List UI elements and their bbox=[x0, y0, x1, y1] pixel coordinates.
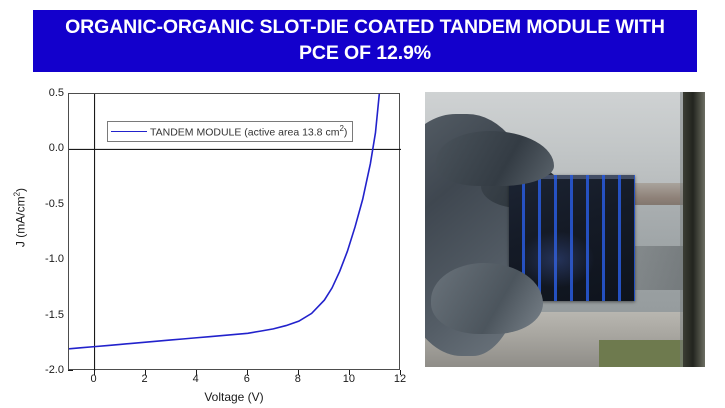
module-photograph bbox=[425, 92, 705, 367]
page-title: ORGANIC-ORGANIC SLOT-DIE COATED TANDEM M… bbox=[65, 15, 665, 67]
y-tick-label: -2.0 bbox=[28, 364, 64, 376]
legend-color-swatch bbox=[111, 131, 147, 132]
y-tick-label: -1.5 bbox=[28, 309, 64, 321]
x-tick-label: 2 bbox=[130, 373, 160, 385]
legend-label-tail: ) bbox=[344, 127, 348, 139]
x-tick-label: 10 bbox=[334, 373, 364, 385]
x-axis-tick-labels: 0 2 4 6 8 10 12 bbox=[68, 373, 400, 391]
legend-label: TANDEM MODULE (active area 13.8 cm2) bbox=[150, 124, 347, 139]
y-tick-label: 0.0 bbox=[28, 142, 64, 154]
chart-legend: TANDEM MODULE (active area 13.8 cm2) bbox=[107, 121, 353, 142]
title-banner: ORGANIC-ORGANIC SLOT-DIE COATED TANDEM M… bbox=[33, 10, 697, 72]
y-tick-label: -1.0 bbox=[28, 253, 64, 265]
y-tick-label: 0.5 bbox=[28, 87, 64, 99]
x-tick-label: 0 bbox=[79, 373, 109, 385]
photo-window-frame bbox=[683, 92, 705, 367]
y-axis-tick-labels: 0.5 0.0 -0.5 -1.0 -1.5 -2.0 bbox=[22, 93, 64, 370]
plot-frame: TANDEM MODULE (active area 13.8 cm2) bbox=[68, 93, 400, 370]
legend-label-text: TANDEM MODULE (active area 13.8 cm bbox=[150, 127, 339, 139]
jv-curve-chart: J (mA/cm2) 0.5 0.0 -0.5 -1.0 -1.5 -2.0 T… bbox=[0, 80, 415, 408]
x-tick-label: 4 bbox=[181, 373, 211, 385]
x-tick-label: 8 bbox=[283, 373, 313, 385]
x-tick-label: 12 bbox=[385, 373, 415, 385]
y-axis-title-superscript: 2 bbox=[13, 192, 22, 196]
x-axis-title: Voltage (V) bbox=[68, 390, 400, 404]
x-tick-label: 6 bbox=[232, 373, 262, 385]
y-tick-label: -0.5 bbox=[28, 198, 64, 210]
